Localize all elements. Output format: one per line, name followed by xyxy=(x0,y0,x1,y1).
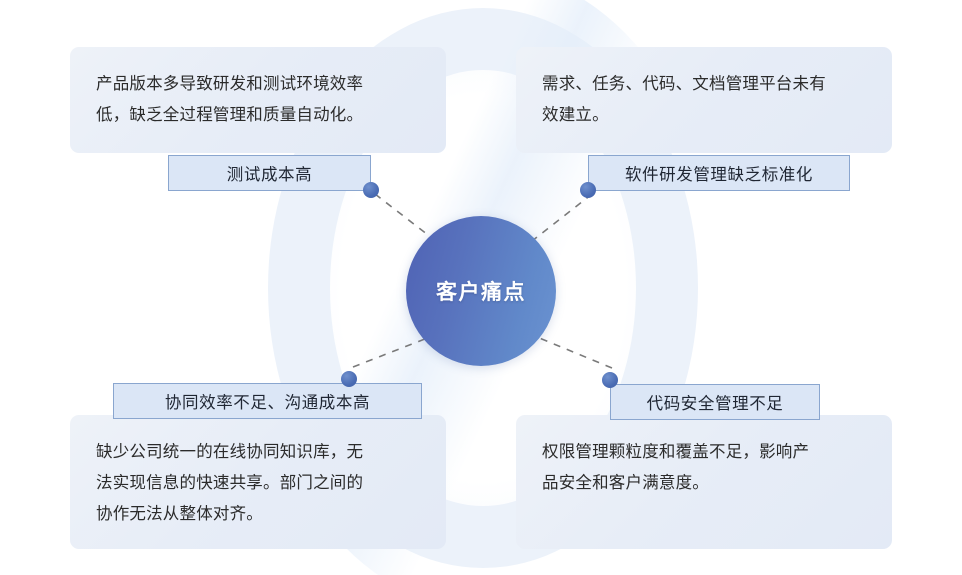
description-text-top-left: 产品版本多导致研发和测试环境效率 低，缺乏全过程管理和质量自动化。 xyxy=(96,69,420,131)
connector-dot-top-right xyxy=(580,182,596,198)
description-card-top-right: 需求、任务、代码、文档管理平台未有 效建立。 xyxy=(516,47,892,153)
label-chip-text-bottom-right: 代码安全管理不足 xyxy=(647,390,784,414)
diagram-canvas: 产品版本多导致研发和测试环境效率 低，缺乏全过程管理和质量自动化。 需求、任务、… xyxy=(0,0,962,575)
description-text-top-right: 需求、任务、代码、文档管理平台未有 效建立。 xyxy=(542,69,866,131)
description-card-bottom-left: 缺少公司统一的在线协同知识库，无 法实现信息的快速共享。部门之间的 协作无法从整… xyxy=(70,415,446,549)
connector-dot-bottom-right xyxy=(602,372,618,388)
connector-dot-top-left xyxy=(363,182,379,198)
label-chip-text-bottom-left: 协同效率不足、沟通成本高 xyxy=(165,389,370,413)
center-hub-circle: 客户痛点 xyxy=(406,216,556,366)
description-card-top-left: 产品版本多导致研发和测试环境效率 低，缺乏全过程管理和质量自动化。 xyxy=(70,47,446,153)
connector-dot-bottom-left xyxy=(341,371,357,387)
label-chip-text-top-left: 测试成本高 xyxy=(227,161,313,185)
center-hub-label: 客户痛点 xyxy=(436,276,526,306)
description-text-bottom-right: 权限管理颗粒度和覆盖不足，影响产 品安全和客户满意度。 xyxy=(542,437,866,499)
label-chip-text-top-right: 软件研发管理缺乏标准化 xyxy=(625,161,813,185)
label-chip-top-left[interactable]: 测试成本高 xyxy=(168,155,371,191)
label-chip-bottom-left[interactable]: 协同效率不足、沟通成本高 xyxy=(113,383,422,419)
label-chip-top-right[interactable]: 软件研发管理缺乏标准化 xyxy=(588,155,850,191)
description-text-bottom-left: 缺少公司统一的在线协同知识库，无 法实现信息的快速共享。部门之间的 协作无法从整… xyxy=(96,437,420,530)
label-chip-bottom-right[interactable]: 代码安全管理不足 xyxy=(610,384,820,420)
description-card-bottom-right: 权限管理颗粒度和覆盖不足，影响产 品安全和客户满意度。 xyxy=(516,415,892,549)
